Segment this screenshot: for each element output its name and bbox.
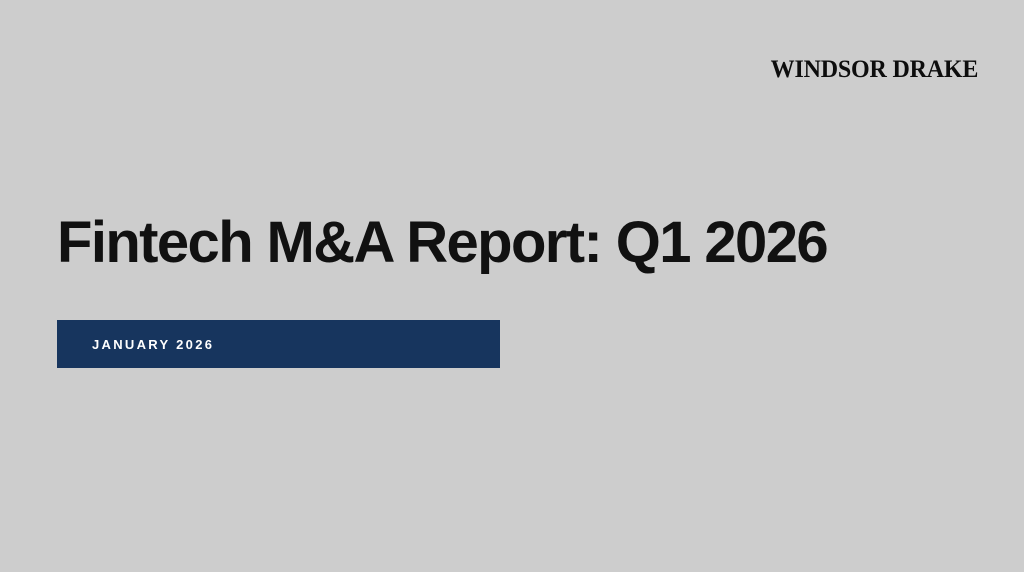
date-badge: JANUARY 2026 bbox=[57, 320, 500, 368]
title-slide: WINDSOR DRAKE Fintech M&A Report: Q1 202… bbox=[0, 0, 1024, 572]
page-title: Fintech M&A Report: Q1 2026 bbox=[57, 208, 957, 278]
brand-logo: WINDSOR DRAKE bbox=[770, 57, 978, 82]
date-badge-label: JANUARY 2026 bbox=[92, 338, 214, 351]
title-block: Fintech M&A Report: Q1 2026 bbox=[57, 208, 957, 278]
